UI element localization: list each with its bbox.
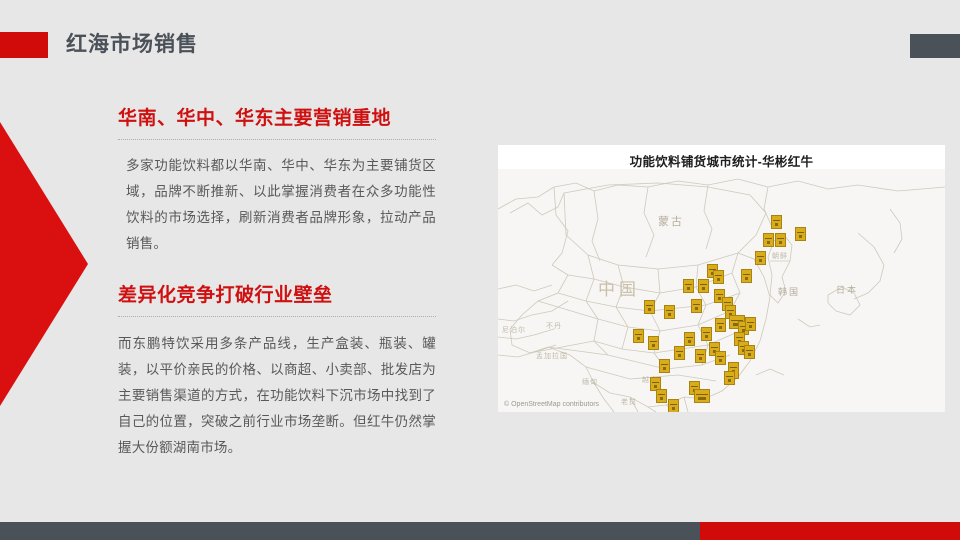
map-city-marker[interactable] (674, 346, 685, 360)
map-city-marker[interactable] (715, 351, 726, 365)
page-title: 红海市场销售 (66, 29, 198, 61)
block-2-body: 而东鹏特饮采用多条产品线，生产盒装、瓶装、罐装，以平价亲民的价格、以商超、小卖部… (118, 331, 436, 461)
map-city-marker[interactable] (695, 349, 706, 363)
content-block-2: 差异化竞争打破行业壁垒 而东鹏特饮采用多条产品线，生产盒装、瓶装、罐装，以平价亲… (118, 281, 448, 461)
slide-root: 红海市场销售 华南、华中、华东主要营销重地 多家功能饮料都以华南、华中、华东为主… (0, 0, 960, 540)
map-city-marker[interactable] (648, 336, 659, 350)
block-1-heading: 华南、华中、华东主要营销重地 (118, 104, 448, 134)
map-attribution: © OpenStreetMap contributors (504, 401, 599, 408)
map-city-marker[interactable] (691, 299, 702, 313)
header-accent-mark (0, 32, 48, 58)
map-city-marker[interactable] (771, 215, 782, 229)
map-city-marker[interactable] (744, 345, 755, 359)
content-column: 华南、华中、华东主要营销重地 多家功能饮料都以华南、华中、华东为主要铺货区域，品… (118, 104, 448, 461)
map-city-marker[interactable] (745, 317, 756, 331)
map-city-marker[interactable] (659, 359, 670, 373)
map-city-marker[interactable] (664, 305, 675, 319)
map-city-marker[interactable] (684, 332, 695, 346)
map-title: 功能饮料铺货城市统计-华彬红牛 (498, 151, 945, 170)
content-block-1: 华南、华中、华东主要营销重地 多家功能饮料都以华南、华中、华东为主要铺货区域，品… (118, 104, 448, 257)
map-city-marker[interactable] (668, 399, 679, 412)
map-city-marker[interactable] (755, 251, 766, 265)
map-city-marker[interactable] (775, 233, 786, 247)
block-1-divider (118, 139, 436, 140)
map-city-marker[interactable] (741, 269, 752, 283)
red-arrow-decoration (0, 122, 88, 406)
map-city-marker[interactable] (644, 300, 655, 314)
footer-bar-gray (0, 522, 700, 540)
map-city-marker[interactable] (633, 329, 644, 343)
map-city-marker[interactable] (795, 227, 806, 241)
map-city-marker[interactable] (763, 233, 774, 247)
map-city-marker[interactable] (715, 318, 726, 332)
header-corner-block (910, 34, 960, 58)
block-2-heading: 差异化竞争打破行业壁垒 (118, 281, 448, 311)
map-city-marker[interactable] (713, 270, 724, 284)
map-city-marker[interactable] (683, 279, 694, 293)
map-city-marker[interactable] (701, 327, 712, 341)
map-panel: 功能饮料铺货城市统计-华彬红牛 (498, 145, 945, 412)
map-city-marker[interactable] (724, 371, 735, 385)
map-canvas[interactable]: 蒙古 中国 韩国 日本 朝鲜 尼泊尔 不丹 孟加拉国 缅甸 越南 老挝 © Op… (498, 169, 945, 412)
map-city-marker[interactable] (656, 389, 667, 403)
map-city-marker[interactable] (694, 389, 710, 403)
block-2-divider (118, 316, 436, 317)
footer-bar-red (700, 522, 960, 540)
map-city-marker[interactable] (698, 279, 709, 293)
block-1-body: 多家功能饮料都以华南、华中、华东为主要铺货区域，品牌不断推新、以此掌握消费者在众… (118, 153, 436, 257)
